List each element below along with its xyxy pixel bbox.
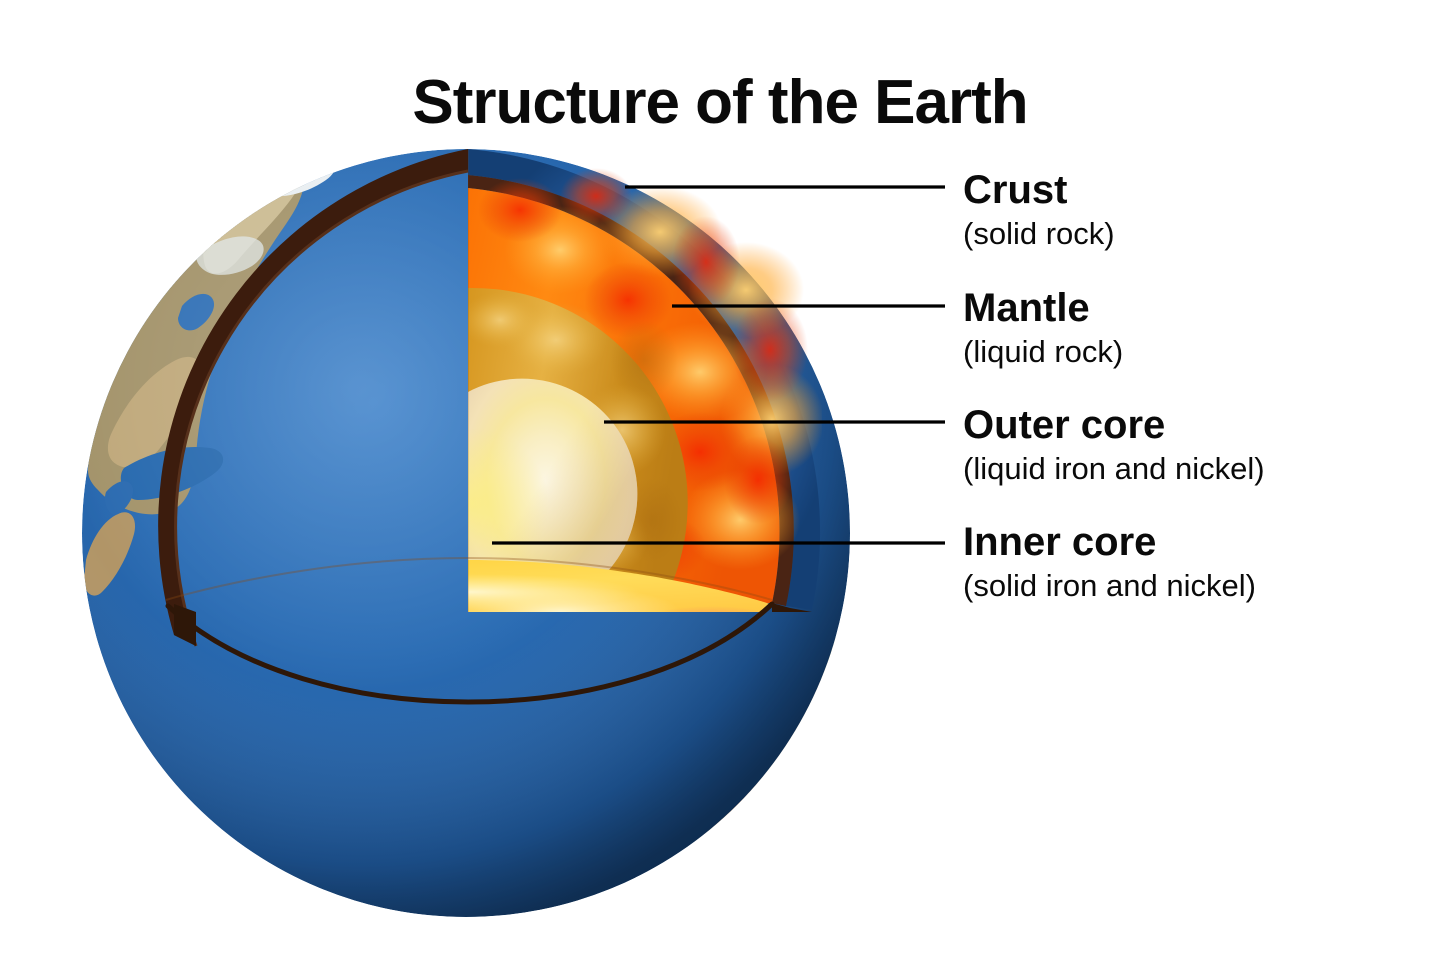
label-mantle-title: Mantle: [963, 288, 1123, 328]
label-inner-core-detail: (solid iron and nickel): [963, 570, 1256, 601]
label-inner-core: Inner core (solid iron and nickel): [963, 522, 1256, 601]
label-outer-core-detail: (liquid iron and nickel): [963, 453, 1265, 484]
new-zealand: [836, 784, 861, 816]
label-crust: Crust (solid rock): [963, 170, 1115, 249]
label-crust-title: Crust: [963, 170, 1115, 210]
label-crust-detail: (solid rock): [963, 218, 1115, 249]
label-mantle-detail: (liquid rock): [963, 336, 1123, 367]
tasmania: [755, 833, 779, 856]
label-outer-core-title: Outer core: [963, 405, 1265, 445]
diagram-canvas: Structure of the Earth: [0, 0, 1440, 960]
label-inner-core-title: Inner core: [963, 522, 1256, 562]
label-mantle: Mantle (liquid rock): [963, 288, 1123, 367]
label-outer-core: Outer core (liquid iron and nickel): [963, 405, 1265, 484]
earth-cutaway-diagram: Crust (solid rock) Mantle (liquid rock) …: [0, 0, 1440, 960]
